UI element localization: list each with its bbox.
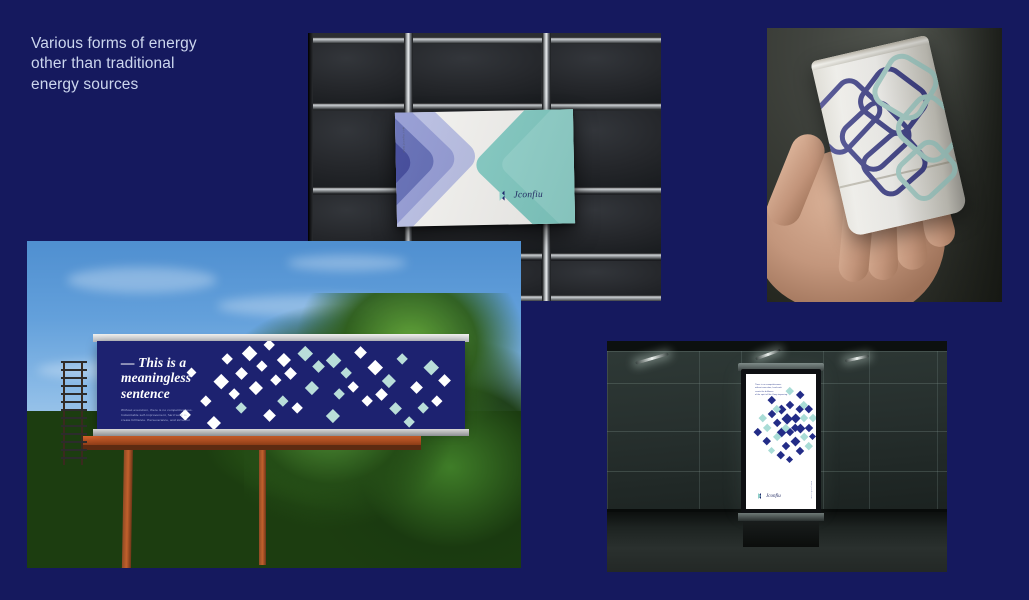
billboard-diamond [347,381,359,393]
billboard-diamond [354,346,367,359]
card-sheen [395,109,575,226]
billboard-diamond [333,388,345,400]
metal-panel [308,43,404,105]
billboard-catwalk [83,436,421,445]
billboard-diamond [249,381,263,395]
ladder-rung [61,425,87,427]
ladder-rung [61,369,87,371]
billboard-leg [259,445,266,565]
poster-url-text: www.jconfiu.com [810,481,812,499]
billboard-diamond [340,367,352,379]
billboard-diamond [277,353,291,367]
brand-wordmark: Jconfiu [766,494,781,499]
billboard-panel: — This is a meaningless sentence Without… [97,341,465,430]
metal-mullion-horizontal [308,103,661,110]
metal-mullion-horizontal [308,37,661,44]
billboard-copy: — This is a meaningless sentence Without… [121,355,243,423]
billboard-diamond [403,416,415,428]
billboard-diamond [326,409,340,423]
poster-top-text: There is no competitiveness without exec… [755,384,801,397]
poster-diamond [800,414,808,422]
brand-arrow-icon [755,492,764,500]
presentation-board: Various forms of energy other than tradi… [0,0,1029,600]
poster-diamond [809,414,816,422]
poster-diamond [805,423,813,431]
lightbox-base [738,513,824,521]
billboard-diamond [291,402,303,414]
ladder-rung [61,393,87,395]
card-logo: Jconfiu [494,188,543,202]
card-chevron-artwork [395,109,575,226]
page-title: Various forms of energy other than tradi… [31,34,311,95]
billboard-diamond [375,388,388,401]
metal-panel [413,43,541,105]
billboard-frame-bottom [93,429,469,436]
poster-diamond [782,442,790,450]
poster-diamond [754,428,762,436]
billboard-diamond [263,341,275,351]
wall-tile-line [607,341,608,513]
billboard-diamond [242,346,258,362]
billboard-body-text: Without execution, there is no competiti… [121,408,243,423]
billboard-diamond [326,353,342,369]
billboard-diamond [438,374,451,387]
billboard-catwalk-shadow [83,445,421,450]
mockup-billboard: — This is a meaningless sentence Without… [27,241,521,568]
ladder-rung [61,449,87,451]
billboard-diamond [410,381,423,394]
ladder-rung [61,433,87,435]
billboard-diamond [312,360,325,373]
metal-panel [550,43,661,105]
wall-tile-line [869,341,870,513]
poster-diamond [790,414,800,424]
ladder-rung [61,457,87,459]
billboard-diamond [284,367,297,380]
poster-diamond [795,391,804,400]
billboard-diamond [361,395,373,407]
ladder-rung [61,409,87,411]
billboard-headline: — This is a meaningless sentence [121,355,243,401]
brand-arrow-icon [494,189,509,202]
billboard-diamond [417,402,429,414]
ladder-rung [61,417,87,419]
wall-tile-line [699,341,700,513]
poster-logo: Jconfiu [755,492,781,500]
poster-diamond [795,446,803,454]
poster-diamond [768,447,775,454]
billboard-diamond [270,374,281,385]
billboard-diamond [256,360,267,371]
mockup-transit-lightbox: There is no competitiveness without exec… [607,341,947,572]
billboard-diamond [277,395,288,406]
card-url-text: www.jconfiu.com [402,127,406,153]
poster-diamond [763,423,772,432]
billboard-diamond [382,374,396,388]
metal-panel [308,111,404,189]
lightbox-plinth [743,521,819,547]
billboard-diamond [396,353,408,365]
billboard-diamond [389,402,402,415]
brand-wordmark: Jconfiu [513,189,543,200]
business-card: www.jconfiu.com Jconfiu [395,109,575,226]
poster-diamond [777,451,785,459]
poster-diamond [759,414,767,422]
poster-diamond [791,437,801,447]
poster-diamond [809,433,816,440]
billboard-diamond [263,409,276,422]
poster-diamond [772,419,781,428]
billboard-diamond [305,381,319,395]
billboard-diamond [431,395,442,406]
billboard-diamond [368,360,383,375]
ladder-rung [61,361,87,363]
poster-diamond [786,456,793,463]
billboard-diamond [298,346,313,361]
ladder-rung [61,377,87,379]
mockup-coffee-cup [767,28,1002,302]
billboard-ladder [61,361,87,465]
ladder-rung [61,401,87,403]
poster-diamond [805,442,813,450]
poster-diamond [786,400,794,408]
ladder-rung [61,441,87,443]
poster-diamond [800,432,809,441]
wall-tile-line [937,341,938,513]
billboard-diamond [424,360,439,375]
ladder-rung [61,385,87,387]
lightbox-poster: There is no competitiveness without exec… [746,374,816,509]
cloud [67,267,217,293]
cloud [287,255,407,271]
poster-diamond [763,437,771,445]
